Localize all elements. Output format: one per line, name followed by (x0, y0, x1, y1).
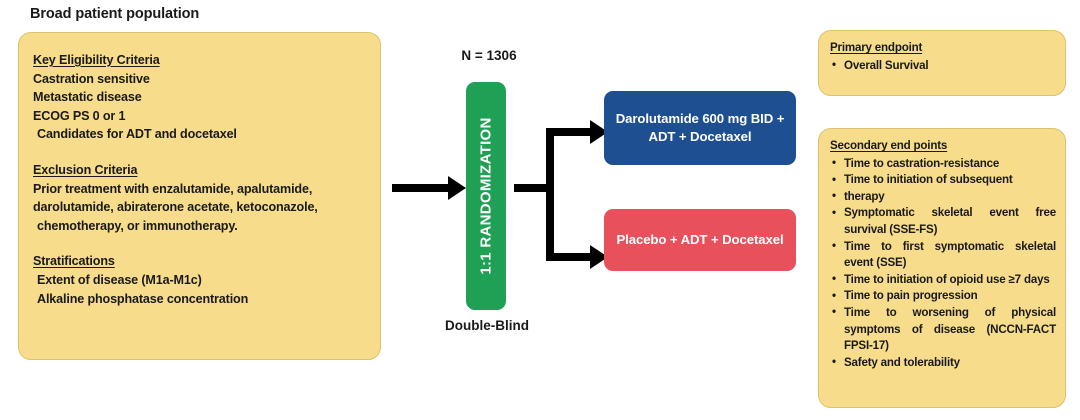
secondary-endpoint-list: Time to castration-resistance Time to in… (830, 156, 1056, 372)
list-item: Time to initiation of opioid use ≥7 days (830, 272, 1056, 289)
primary-endpoint-heading: Primary endpoint (830, 40, 1056, 57)
list-item: Overall Survival (830, 58, 1056, 75)
stratifications-line: Extent of disease (M1a-M1c) (33, 271, 380, 290)
primary-endpoint-list: Overall Survival (830, 58, 1056, 75)
treatment-arm-control-label: Placebo + ADT + Docetaxel (616, 231, 783, 249)
eligibility-criteria-line: Metastatic disease (33, 88, 380, 107)
treatment-arm-experimental: Darolutamide 600 mg BID + ADT + Docetaxe… (604, 91, 796, 165)
experimental-branch-shaft (546, 128, 596, 136)
list-item: Time to castration-resistance (830, 156, 1056, 173)
page-title: Broad patient population (30, 6, 199, 22)
inflow-arrow-shaft (392, 184, 450, 192)
list-item: Time to initiation of subsequent (830, 172, 1056, 189)
primary-endpoint-content: Primary endpoint Overall Survival (819, 31, 1065, 74)
list-item: Safety and tolerability (830, 355, 1056, 372)
list-item: Time to first symptomatic skeletal event… (830, 239, 1056, 272)
secondary-endpoint-panel: Secondary end points Time to castration-… (818, 128, 1066, 408)
blinding-label: Double-Blind (420, 318, 554, 333)
exclusion-criteria-group: Exclusion Criteria Prior treatment with … (33, 161, 380, 235)
stratifications-group: Stratifications Extent of disease (M1a-M… (33, 252, 380, 308)
control-branch-shaft (546, 253, 596, 261)
eligibility-criteria-line: Candidates for ADT and docetaxel (33, 125, 380, 144)
stratifications-line: Alkaline phosphatase concentration (33, 290, 380, 309)
exclusion-criteria-heading: Exclusion Criteria (33, 161, 380, 180)
eligibility-criteria-line: ECOG PS 0 or 1 (33, 107, 380, 126)
enrollment-count-label: N = 1306 (444, 48, 534, 63)
randomization-label: 1:1 RANDOMIZATION (478, 117, 495, 274)
primary-endpoint-panel: Primary endpoint Overall Survival (818, 30, 1066, 96)
list-item: therapy (830, 189, 1056, 206)
exclusion-criteria-line: darolutamide, abiraterone acetate, ketoc… (33, 198, 380, 217)
exclusion-criteria-line: chemotherapy, or immunotherapy. (33, 217, 380, 236)
secondary-endpoint-content: Secondary end points Time to castration-… (819, 129, 1065, 371)
secondary-endpoint-heading: Secondary end points (830, 138, 1056, 155)
list-item: Time to worsening of physical symptoms o… (830, 305, 1056, 355)
list-item: Symptomatic skeletal event free survival… (830, 205, 1056, 238)
exclusion-criteria-line: Prior treatment with enzalutamide, apalu… (33, 180, 380, 199)
eligibility-criteria-line: Castration sensitive (33, 70, 380, 89)
eligibility-criteria-group: Key Eligibility Criteria Castration sens… (33, 51, 380, 144)
inflow-arrow-head-icon (448, 176, 466, 200)
split-connector-riser (546, 128, 554, 261)
eligibility-criteria-heading: Key Eligibility Criteria (33, 51, 380, 70)
population-criteria-content: Key Eligibility Criteria Castration sens… (19, 33, 380, 308)
randomization-box: 1:1 RANDOMIZATION (466, 82, 506, 310)
treatment-arm-experimental-label: Darolutamide 600 mg BID + ADT + Docetaxe… (612, 110, 788, 146)
list-item: Time to pain progression (830, 288, 1056, 305)
population-criteria-panel: Key Eligibility Criteria Castration sens… (18, 32, 381, 360)
treatment-arm-control: Placebo + ADT + Docetaxel (604, 209, 796, 271)
stratifications-heading: Stratifications (33, 252, 380, 271)
